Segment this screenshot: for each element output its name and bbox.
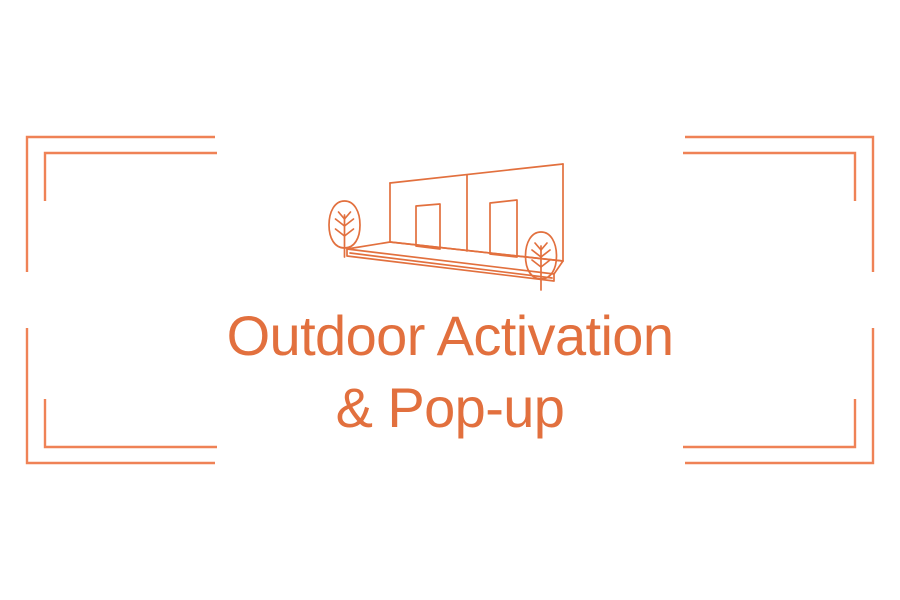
door-left [416, 204, 440, 249]
frame-corner-top-right [683, 137, 873, 272]
title-card: Outdoor Activation & Pop-up [0, 0, 900, 600]
frame-corner-top-left [27, 137, 217, 272]
page-title: Outdoor Activation & Pop-up [0, 300, 900, 444]
door-right [490, 200, 517, 257]
page-title-line-2: & Pop-up [0, 372, 900, 444]
page-title-line-1: Outdoor Activation [0, 300, 900, 372]
outdoor-pavilion-illustration [320, 140, 590, 305]
tree-left-icon [329, 201, 360, 257]
